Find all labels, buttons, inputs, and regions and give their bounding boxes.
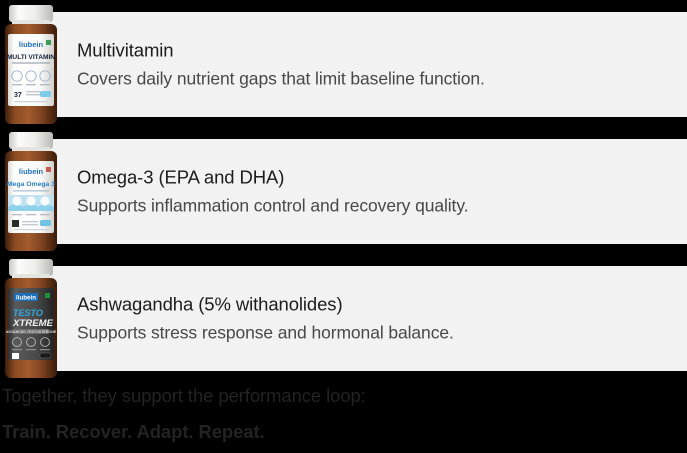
svg-text:Mega Omega 3: Mega Omega 3 xyxy=(7,181,55,188)
product-description: Covers daily nutrient gaps that limit ba… xyxy=(77,68,671,91)
product-card-text: Omega-3 (EPA and DHA) Supports inflammat… xyxy=(77,165,671,218)
product-card[interactable]: liubein MULTI VITAMIN 37 Multivitamin Co… xyxy=(25,12,687,117)
product-description: Supports inflammation control and recove… xyxy=(77,195,671,218)
product-description: Supports stress response and hormonal ba… xyxy=(77,322,671,345)
product-card[interactable]: liubein Mega Omega 3 Omega-3 (EPA xyxy=(25,139,687,244)
slide-root: liubein MULTI VITAMIN 37 Multivitamin Co… xyxy=(0,0,687,453)
product-title: Omega-3 (EPA and DHA) xyxy=(77,165,671,189)
footer-summary: Together, they support the performance l… xyxy=(0,371,687,453)
svg-text:MULTI VITAMIN: MULTI VITAMIN xyxy=(7,54,55,61)
svg-text:liubein: liubein xyxy=(19,167,44,176)
supplement-bottle-icon: liubein TESTO XTREME ADVANCED TESTOSTERO… xyxy=(0,256,62,382)
svg-text:liubein: liubein xyxy=(16,294,36,301)
supplement-bottle-icon: liubein Mega Omega 3 xyxy=(0,129,62,255)
svg-text:37: 37 xyxy=(14,92,22,99)
product-card-text: Ashwagandha (5% withanolides) Supports s… xyxy=(77,292,671,345)
product-card-text: Multivitamin Covers daily nutrient gaps … xyxy=(77,38,671,91)
footer-line-tagline: Train. Recover. Adapt. Repeat. xyxy=(2,421,265,443)
supplement-bottle-icon: liubein MULTI VITAMIN 37 xyxy=(0,2,62,128)
svg-text:XTREME: XTREME xyxy=(12,318,54,329)
product-card[interactable]: liubein TESTO XTREME ADVANCED TESTOSTERO… xyxy=(25,266,687,371)
svg-text:TESTO: TESTO xyxy=(13,308,43,318)
svg-text:liubein: liubein xyxy=(19,40,44,49)
product-title: Ashwagandha (5% withanolides) xyxy=(77,292,671,316)
product-title: Multivitamin xyxy=(77,38,671,62)
svg-text:ADVANCED TESTOSTERONE: ADVANCED TESTOSTERONE xyxy=(6,330,57,334)
footer-line-primary: Together, they support the performance l… xyxy=(2,385,366,407)
